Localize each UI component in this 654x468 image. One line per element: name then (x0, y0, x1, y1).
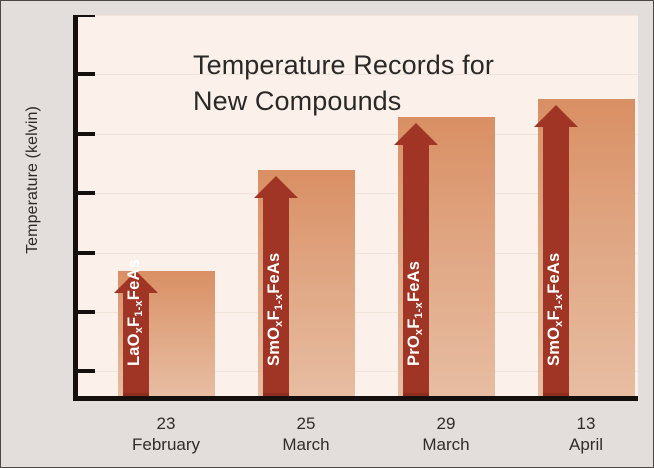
x-axis-tick-label: 25March (251, 413, 361, 456)
y-axis-tick (78, 191, 95, 195)
y-axis-tick (78, 369, 95, 373)
y-axis-tick (78, 310, 95, 314)
x-label-month: April (531, 434, 641, 455)
chart-title-line-1: Temperature Records for (193, 48, 494, 84)
x-label-day: 25 (251, 413, 361, 434)
marker-base (263, 393, 289, 396)
x-label-month: March (251, 434, 361, 455)
marker-base (123, 393, 149, 396)
arrow-up-icon (394, 123, 438, 145)
bar-marker: LaOxF1-xFeAs (114, 271, 158, 396)
bar-compound-label: LaOxF1-xFeAs (125, 259, 144, 366)
y-axis-tick (78, 132, 95, 136)
bar-marker: SmOxF1-xFeAs (254, 176, 298, 396)
marker-base (543, 393, 569, 396)
x-label-month: March (391, 434, 501, 455)
bar-compound-label: SmOxF1-xFeAs (265, 253, 284, 366)
chart-figure: Temperature (kelvin) 70605040302010 LaOx… (0, 0, 654, 468)
arrow-up-icon (254, 176, 298, 198)
x-axis-tick-label: 23February (111, 413, 221, 456)
y-axis-tick (78, 72, 95, 76)
gridline (78, 15, 638, 16)
chart-title: Temperature Records for New Compounds (193, 48, 494, 119)
bar-compound-label: SmOxF1-xFeAs (545, 253, 564, 366)
x-label-day: 23 (111, 413, 221, 434)
x-label-day: 29 (391, 413, 501, 434)
x-axis-tick-label: 13April (531, 413, 641, 456)
y-axis-tick (78, 15, 95, 17)
arrow-up-icon (534, 105, 578, 127)
plot-area: LaOxF1-xFeAsSmOxF1-xFeAsPrOxF1-xFeAsSmOx… (73, 15, 638, 401)
x-axis-tick-label: 29March (391, 413, 501, 456)
y-axis-tick (78, 251, 95, 255)
bar-compound-label: PrOxF1-xFeAs (405, 261, 424, 366)
x-label-day: 13 (531, 413, 641, 434)
y-axis-title: Temperature (kelvin) (24, 70, 42, 290)
marker-base (403, 393, 429, 396)
chart-title-line-2: New Compounds (193, 84, 494, 120)
bar-marker: PrOxF1-xFeAs (394, 123, 438, 396)
x-label-month: February (111, 434, 221, 455)
bar-marker: SmOxF1-xFeAs (534, 105, 578, 396)
